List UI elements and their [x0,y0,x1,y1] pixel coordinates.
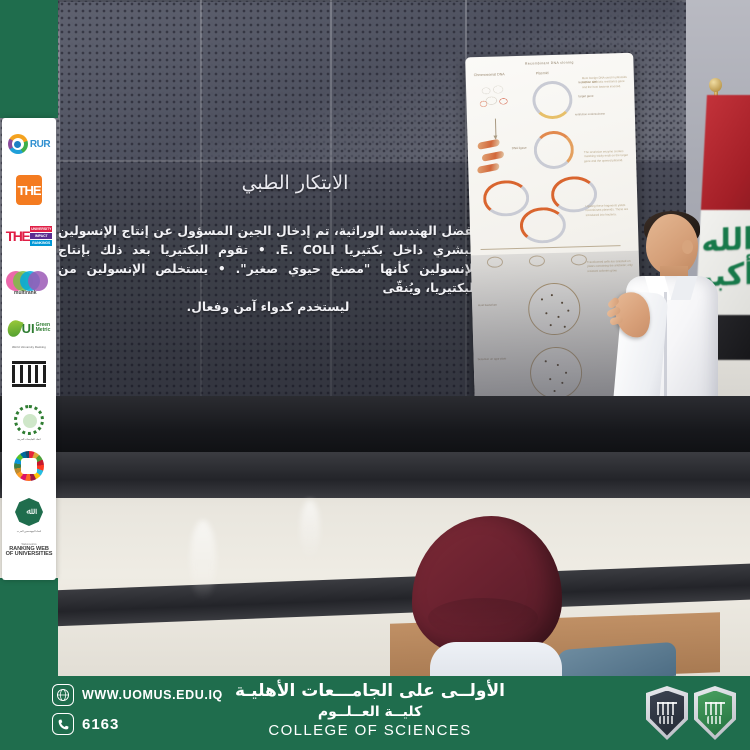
event-photograph: الابتكار الطبي بفضل الهندسة الوراثية، تم… [0,0,750,676]
presenter-ear [682,240,693,254]
logo-the[interactable]: THE [4,168,54,212]
poster-label-target-gene: target gene [578,94,593,98]
flag-finial [709,78,722,92]
logo-sustainable-development-goals[interactable] [4,444,54,488]
emblem-banner-icon [659,716,675,724]
slide-body-line-1: بفضل الهندسة الوراثية، تم إدخال الجين ال… [58,224,478,238]
logo-association-of-arab-universities[interactable]: اتحاد الجامعات العربية [4,398,54,442]
hijab-fold [428,598,538,638]
college-emblem-inner [698,691,732,736]
floor-dark-band-upper [0,452,750,498]
rur-ring-icon [8,134,28,154]
logo-rur[interactable]: RUR [4,122,54,166]
slide-title: الابتكار الطبي [60,172,530,194]
wall-seam [200,0,202,410]
university-emblem-shield[interactable] [646,686,688,740]
rankings-rail: RUR THE THE UNIVERSITY IMPACT RANKINGS [2,118,56,580]
chromosomal-dna-tangle [474,80,515,115]
sdg-wheel-icon [14,451,44,481]
emblem-crest-icon [705,702,725,715]
poster-note-1: Most foreign DNA used in plasmids with a… [582,75,630,89]
social-media-poster: الابتكار الطبي بفضل الهندسة الوراثية، تم… [0,0,750,750]
wall-seam-horizontal [60,160,750,162]
impact-bar-impact: IMPACT [30,233,52,239]
wreath-icon [14,405,44,435]
seated-student [402,516,572,676]
classical-building-icon [12,361,46,387]
plasmid-ring-cut [533,130,574,169]
greenmetric-mark: UI Green Metric [8,320,51,337]
building-columns [12,365,46,383]
poster-label-ligase: DNA ligase [512,146,527,150]
poster-divider [481,245,621,250]
emblem-banner-icon [707,716,723,724]
the-label: THE [18,183,41,198]
multirank-circles-icon: multirank [6,269,52,295]
floor-reflection [190,520,216,600]
recombinant-plasmid-3 [519,207,566,244]
greenmetric-caption: World University Ranking [4,347,54,350]
building-roof [12,361,46,364]
impact-bar-university: UNIVERSITY [30,226,52,232]
leaf-icon [5,318,23,338]
rur-label: RUR [30,139,50,150]
bacterium-fragment [477,163,499,174]
the-impact-mark: THE UNIVERSITY IMPACT RANKINGS [6,226,53,246]
logo-u-multirank[interactable]: multirank [4,260,54,304]
bacterium-fragment [478,139,500,150]
arab-engineers-caption-ar: اتحاد المهندسين العرب [4,531,54,534]
greenmetric-metric: Metric [36,328,51,334]
footer-titles: الأولــى على الجامـــعات الأهليـة كليــة… [200,680,540,741]
the-badge-icon: THE [16,175,42,205]
slide-body: بفضل الهندسة الوراثية، تم إدخال الجين ال… [58,222,478,317]
college-emblem-shield[interactable] [694,686,736,740]
arab-universities-caption: اتحاد الجامعات العربية [4,439,54,442]
logo-academic-building[interactable] [4,352,54,396]
impact-bars: UNIVERSITY IMPACT RANKINGS [30,226,52,246]
arab-engineers-emblem-icon: ﷲ [15,498,43,526]
poster-label-plasmid: Plasmid [536,71,549,75]
wall-seam [330,0,332,410]
flag-band-red [701,95,750,210]
building-base [12,384,46,387]
footer-college-en: COLLEGE OF SCIENCES [200,721,540,741]
rail-green-top [0,0,58,118]
footer-bar: WWW.UOMUS.EDU.IQ 6163 الأولــى على الجام… [0,676,750,750]
poster-title: Recombinant DNA cloning [465,59,633,68]
recombinant-plasmid-1 [483,180,530,217]
arab-engineers-glyph: ﷲ [26,507,31,517]
stage-base [0,396,750,458]
impact-bar-rankings: RANKINGS [30,240,52,246]
floor-reflection [300,500,320,560]
plasmid-ring-1 [532,80,573,119]
greenmetric-ui: UI [22,322,35,335]
www-globe-icon [52,684,74,706]
footer-tagline-ar: الأولــى على الجامـــعات الأهليـة [200,680,540,703]
phone-label: 6163 [82,716,119,733]
poster-label-chromosome: Chromosomal DNA [474,72,505,77]
logo-federation-of-arab-engineers[interactable]: ﷲ اتحاد المهندسين العرب [4,490,54,534]
greenmetric-words: Green Metric [36,323,51,334]
multirank-label: multirank [14,290,37,296]
flow-arrow [495,119,497,139]
student-shirt [430,642,562,676]
bacterium-fragment [482,151,504,162]
logo-ui-greenmetric[interactable]: UI Green Metric World University Ranking [4,306,54,350]
slide-body-line-3: كأنها "مصنع حيوي صغير". • يستخلص الإنسول… [58,262,478,295]
the-impact-label: THE [6,228,30,244]
webometrics-mark: Webometrics RANKING WEB OF UNIVERSITIES [6,544,53,558]
poster-note-2: The restriction enzyme creates matching … [584,149,632,163]
rail-green-bottom [0,578,58,676]
emblem-group [646,686,736,740]
logo-ranking-web-of-universities[interactable]: Webometrics RANKING WEB OF UNIVERSITIES [4,536,54,566]
emblem-crest-icon [657,702,677,715]
webometrics-line-2: OF UNIVERSITIES [6,552,53,558]
poster-label-enzyme: restriction endonuclease [575,111,623,116]
slide-body-line-4: ليستخدم كدواء آمن وفعال. [58,298,478,317]
multirank-circle [28,271,48,291]
phone-icon [52,713,74,735]
footer-college-ar: كليــة العــلــوم [200,703,540,721]
logo-the-impact-rankings[interactable]: THE UNIVERSITY IMPACT RANKINGS [4,214,54,258]
university-emblem-inner [650,691,684,736]
